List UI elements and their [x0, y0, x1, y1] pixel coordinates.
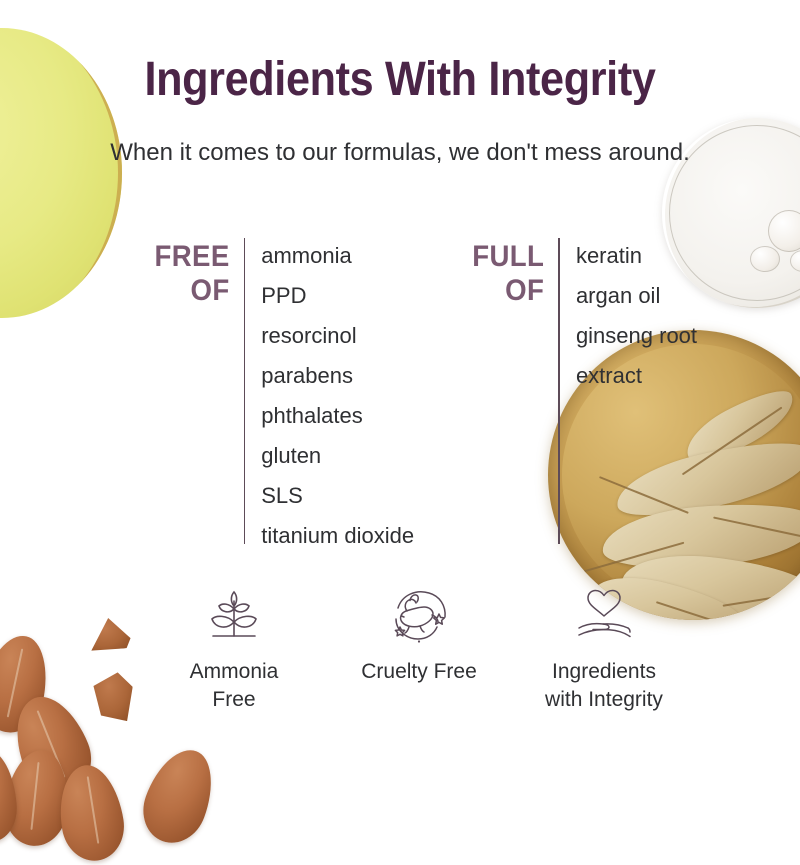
badge-label: Cruelty Free — [331, 658, 507, 686]
list-item: SLS — [261, 476, 414, 516]
leaping-bunny-icon — [331, 584, 507, 648]
full-of-list: keratin argan oil ginseng root extract — [576, 236, 697, 396]
list-item: gluten — [261, 436, 414, 476]
list-item: parabens — [261, 356, 414, 396]
badge-cruelty-free: Cruelty Free — [331, 584, 507, 714]
sprout-plant-icon — [146, 584, 322, 648]
free-of-column: FREE OF ammonia PPD resorcinol parabens … — [148, 236, 414, 556]
badge-ingredients-with-integrity: Ingredients with Integrity — [516, 584, 692, 714]
list-item: keratin — [576, 236, 697, 276]
list-item: ammonia — [261, 236, 414, 276]
certification-badges: Ammonia Free Cruelt — [146, 584, 692, 714]
list-item: resorcinol — [261, 316, 414, 356]
heart-in-hand-icon — [516, 584, 692, 648]
list-item: argan oil — [576, 276, 697, 316]
list-item: PPD — [261, 276, 414, 316]
badge-label: Ammonia Free — [146, 658, 322, 714]
free-of-list: ammonia PPD resorcinol parabens phthalat… — [261, 236, 414, 556]
badge-ammonia-free: Ammonia Free — [146, 584, 322, 714]
list-item: ginseng root — [576, 316, 697, 356]
list-item: phthalates — [261, 396, 414, 436]
list-item: extract — [576, 356, 697, 396]
poster-content: Ingredients With Integrity When it comes… — [0, 0, 800, 800]
subtitle: When it comes to our formulas, we don't … — [0, 136, 800, 169]
free-of-divider — [244, 238, 246, 544]
page-title: Ingredients With Integrity — [40, 52, 760, 107]
list-item: titanium dioxide — [261, 516, 414, 556]
full-of-kicker: FULL OF — [472, 236, 544, 308]
full-of-column: FULL OF keratin argan oil ginseng root e… — [466, 236, 697, 544]
ingredient-columns: FREE OF ammonia PPD resorcinol parabens … — [148, 236, 688, 556]
full-of-divider — [558, 238, 560, 544]
free-of-kicker: FREE OF — [155, 236, 230, 308]
badge-label: Ingredients with Integrity — [516, 658, 692, 714]
